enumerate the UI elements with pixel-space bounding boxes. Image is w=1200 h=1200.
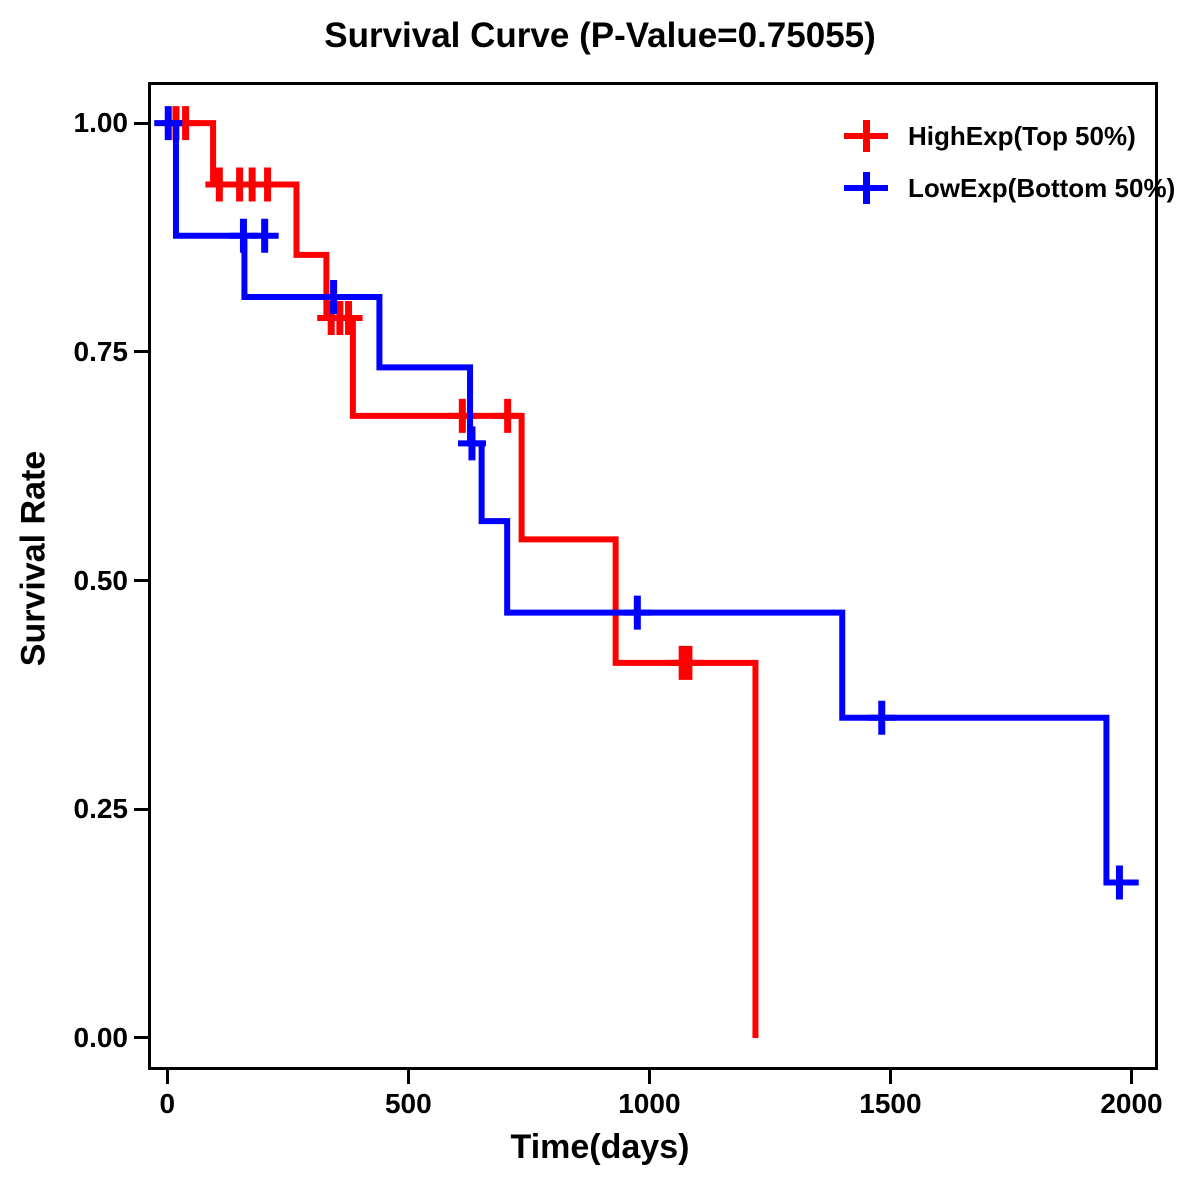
y-tick-label: 1.00 [0, 107, 128, 139]
legend-item[interactable]: HighExp(Top 50%) [840, 110, 1175, 162]
series-highexp [162, 106, 755, 1038]
y-tick-mark [134, 122, 148, 125]
x-tick-label: 0 [159, 1088, 175, 1120]
step-line [167, 123, 1138, 882]
x-tick-label: 1500 [859, 1088, 921, 1120]
step-line [167, 123, 755, 1038]
legend-item-label: HighExp(Top 50%) [908, 121, 1136, 152]
x-tick-mark [889, 1070, 892, 1084]
y-tick-label: 0.25 [0, 793, 128, 825]
series-lowexp [154, 106, 1138, 899]
y-tick-label: 0.50 [0, 565, 128, 597]
x-tick-mark [1130, 1070, 1133, 1084]
legend-item-label: LowExp(Bottom 50%) [908, 173, 1175, 204]
y-tick-mark [134, 808, 148, 811]
plus-marker-icon [840, 118, 892, 154]
x-tick-label: 1000 [618, 1088, 680, 1120]
x-tick-label: 2000 [1100, 1088, 1162, 1120]
plus-marker-icon [840, 170, 892, 206]
x-tick-label: 500 [385, 1088, 432, 1120]
y-tick-mark [134, 1036, 148, 1039]
survival-curves-svg [148, 82, 1158, 1070]
legend-item[interactable]: LowExp(Bottom 50%) [840, 162, 1175, 214]
x-tick-mark [166, 1070, 169, 1084]
plot-area [148, 82, 1158, 1070]
page-title: Survival Curve (P-Value=0.75055) [0, 16, 1200, 56]
y-tick-mark [134, 579, 148, 582]
y-tick-label: 0.75 [0, 336, 128, 368]
survival-curve-figure: Survival Curve (P-Value=0.75055) Surviva… [0, 0, 1200, 1200]
x-axis-title: Time(days) [0, 1128, 1200, 1167]
legend: HighExp(Top 50%)LowExp(Bottom 50%) [840, 110, 1175, 214]
y-tick-label: 0.00 [0, 1022, 128, 1054]
x-tick-mark [648, 1070, 651, 1084]
y-tick-mark [134, 350, 148, 353]
x-tick-mark [407, 1070, 410, 1084]
